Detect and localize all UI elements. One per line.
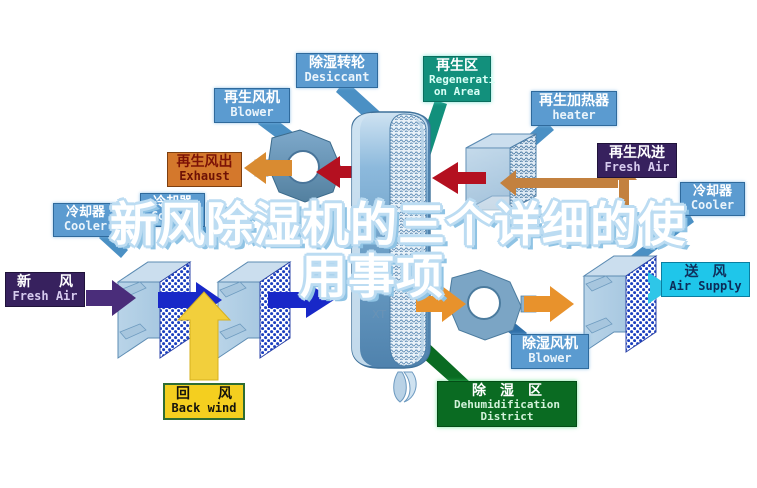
label-cooler-left[interactable]: 冷却器 Cooler [53, 203, 118, 237]
label-desiccant[interactable]: 除湿转轮 Desiccant [296, 53, 378, 88]
label-desiccant-en: Desiccant [302, 71, 372, 84]
desiccant-rotor: XT [352, 112, 430, 402]
label-back-wind[interactable]: 回 风 Back wind [163, 383, 245, 420]
label-air-supply-cn: 送 风 [667, 265, 744, 280]
label-exhaust-cn: 再生风出 [173, 155, 236, 170]
label-regeneration-fresh-air[interactable]: 再生风进 Fresh Air [597, 143, 677, 178]
blower-out-arrow [524, 286, 574, 322]
label-exhaust[interactable]: 再生风出 Exhaust [167, 152, 242, 187]
label-regeneration-area[interactable]: 再生区 Regenerati on Area [423, 56, 491, 102]
label-dehumidification-district-en: Dehumidification District [443, 399, 571, 423]
label-cooler-center[interactable]: 冷却器 Cooler [140, 193, 205, 227]
label-exhaust-en: Exhaust [173, 170, 236, 183]
cooler-unit-1 [118, 262, 190, 358]
label-fresh-air-inlet-en: Fresh Air [11, 290, 79, 303]
label-back-wind-en: Back wind [170, 402, 238, 415]
label-regeneration-heater-en: heater [537, 109, 611, 122]
label-fresh-air-inlet[interactable]: 新 风 Fresh Air [5, 272, 85, 307]
cooler-unit-2 [218, 262, 290, 358]
label-desiccant-cn: 除湿转轮 [302, 56, 372, 71]
label-dehumidification-district-cn: 除 湿 区 [443, 384, 571, 399]
label-fresh-air-inlet-cn: 新 风 [11, 275, 79, 290]
cooler-unit-3 [584, 256, 656, 352]
dehumidifier-schematic: XT [0, 0, 757, 488]
label-cooler-center-en: Cooler [146, 210, 199, 223]
svg-text:XT: XT [372, 308, 386, 321]
label-dehumidification-district[interactable]: 除 湿 区 Dehumidification District [437, 381, 577, 427]
label-regeneration-blower-en: Blower [220, 106, 284, 119]
label-air-supply[interactable]: 送 风 Air Supply [661, 262, 750, 297]
label-regeneration-heater[interactable]: 再生加热器 heater [531, 91, 617, 126]
label-regeneration-blower-cn: 再生风机 [220, 91, 284, 106]
label-cooler-right[interactable]: 冷却器 Cooler [680, 182, 745, 216]
label-cooler-right-cn: 冷却器 [686, 185, 739, 199]
label-regeneration-heater-cn: 再生加热器 [537, 94, 611, 109]
label-regeneration-area-cn: 再生区 [429, 59, 485, 74]
label-regeneration-fresh-air-cn: 再生风进 [603, 146, 671, 161]
label-regeneration-area-en: Regenerati on Area [429, 74, 485, 98]
label-cooler-left-en: Cooler [59, 220, 112, 233]
label-cooler-center-cn: 冷却器 [146, 196, 199, 210]
label-dehumidifying-blower-cn: 除湿风机 [517, 337, 583, 352]
label-regeneration-fresh-air-en: Fresh Air [603, 161, 671, 174]
label-regeneration-blower[interactable]: 再生风机 Blower [214, 88, 290, 123]
label-back-wind-cn: 回 风 [170, 387, 238, 402]
label-dehumidifying-blower[interactable]: 除湿风机 Blower [511, 334, 589, 369]
label-cooler-right-en: Cooler [686, 199, 739, 212]
label-cooler-left-cn: 冷却器 [59, 206, 112, 220]
diagram-canvas: XT [0, 0, 757, 488]
label-air-supply-en: Air Supply [667, 280, 744, 293]
label-dehumidifying-blower-en: Blower [517, 352, 583, 365]
